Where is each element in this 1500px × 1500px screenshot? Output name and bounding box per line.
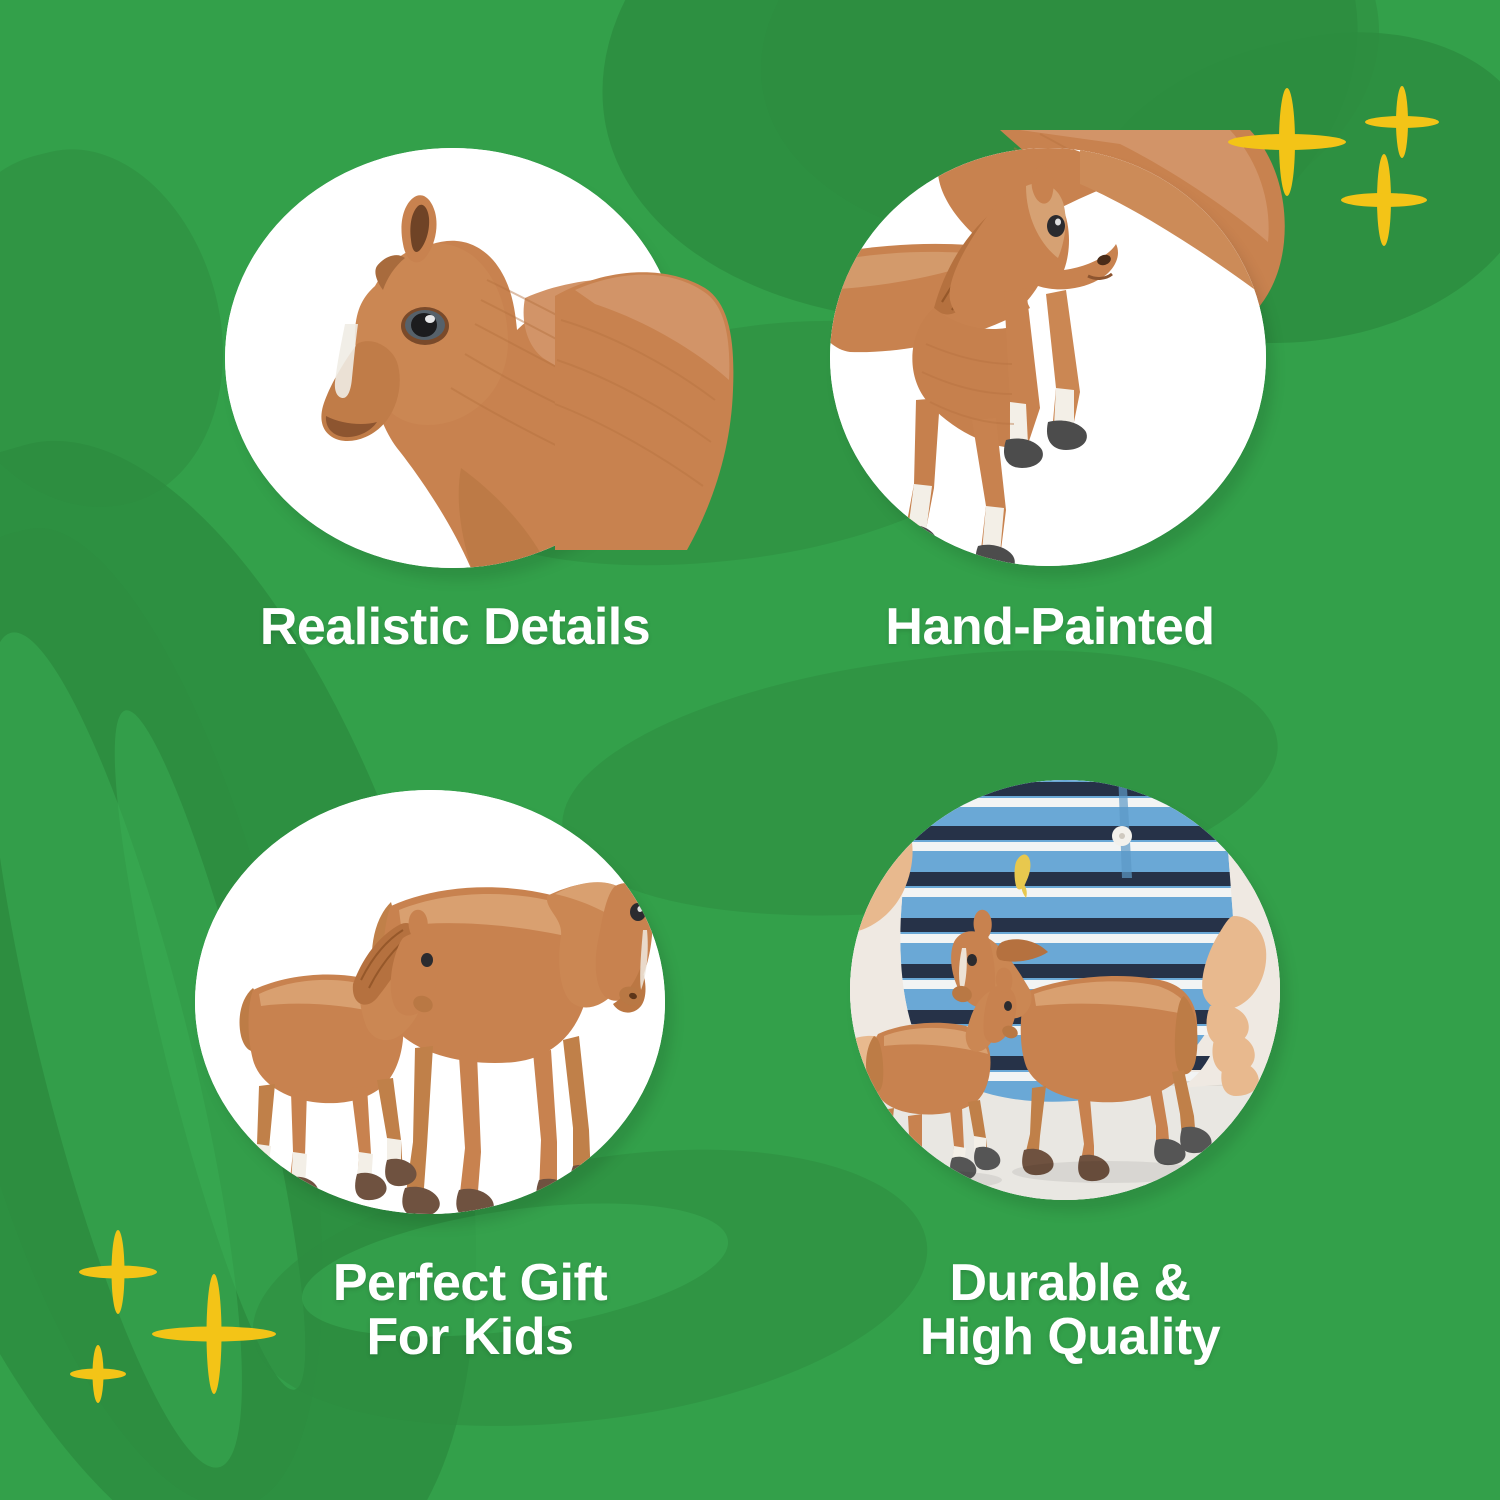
foal-hand-painted-image [830, 148, 1266, 566]
sparkle-icon [1382, 198, 1386, 202]
caption-perfect-gift: Perfect Gift For Kids [180, 1256, 760, 1364]
caption-durable-quality: Durable & High Quality [790, 1256, 1350, 1364]
sparkle-icon [116, 1270, 120, 1274]
infographic-canvas: Realistic Details [0, 0, 1500, 1500]
horse-body-overflow-1 [555, 250, 735, 560]
sparkle-icon [1285, 140, 1289, 144]
caption-realistic-details: Realistic Details [185, 600, 725, 654]
photo-circle-perfect-gift [195, 790, 665, 1214]
child-with-figurines-image [850, 780, 1280, 1200]
sparkle-icon [1400, 120, 1404, 124]
caption-hand-painted: Hand-Painted [780, 600, 1320, 654]
sparkle-icon [212, 1332, 216, 1336]
photo-circle-hand-painted [830, 148, 1266, 566]
mare-and-foal-pair-image [195, 790, 665, 1214]
photo-circle-durable-quality [850, 780, 1280, 1200]
sparkle-icon [96, 1372, 100, 1376]
